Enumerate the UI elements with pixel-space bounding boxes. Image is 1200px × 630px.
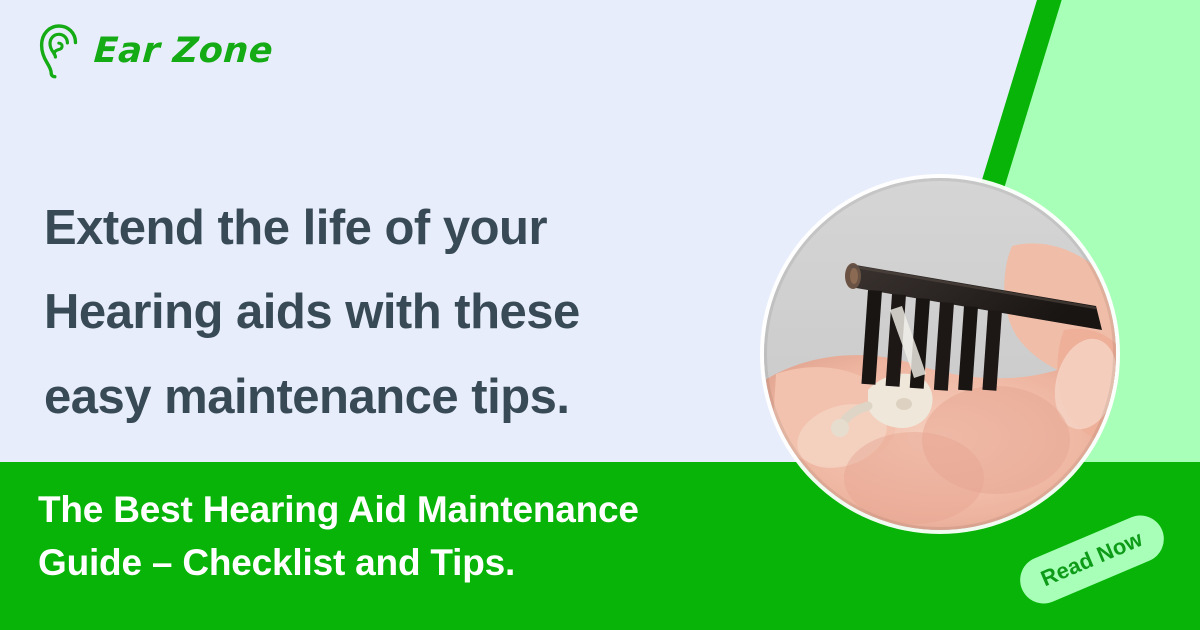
article-title: The Best Hearing Aid Maintenance Guide –… [38,484,798,589]
headline-line-3: easy maintenance tips. [44,355,744,439]
brand-name: Ear Zone [93,34,275,69]
hearing-aid-cleaning-photo [764,178,1116,530]
headline-line-2: Hearing aids with these [44,270,744,354]
headline-line-1: Extend the life of your [44,186,744,270]
ear-icon [34,22,90,80]
banner-line-2: Guide – Checklist and Tips. [38,537,798,590]
banner-canvas: Ear Zone Extend the life of your Hearing… [0,0,1200,630]
brand-logo[interactable]: Ear Zone [34,22,273,80]
page-title: Extend the life of your Hearing aids wit… [44,186,744,439]
banner-line-1: The Best Hearing Aid Maintenance [38,484,798,537]
